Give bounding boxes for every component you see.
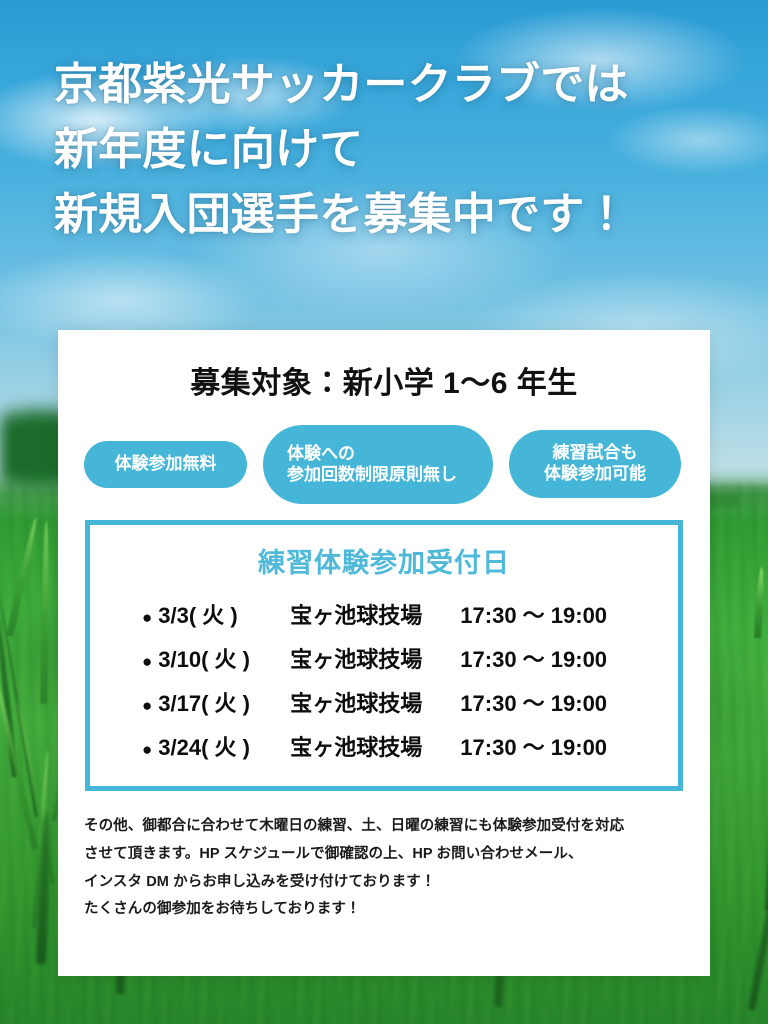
headline-line-1: 京都紫光サッカークラブでは [54, 52, 744, 117]
information-card: 募集対象：新小学 1〜6 年生 体験参加無料 体験への 参加回数制限原則無し 練… [58, 330, 710, 976]
bullet-icon: ● [142, 697, 152, 714]
schedule-row: ● 3/10( 火 ) 宝ヶ池球技場 17:30 〜 19:00 [90, 636, 678, 680]
poster-root: 京都紫光サッカークラブでは 新年度に向けて 新規入団選手を募集中です！ 募集対象… [0, 0, 768, 1024]
feature-pill-unlimited-trials-line-2: 参加回数制限原則無し [287, 465, 457, 486]
schedule-time: 17:30 〜 19:00 [460, 686, 607, 718]
footer-note-line-4: たくさんの御参加をお待ちしております！ [84, 896, 684, 924]
schedule-venue: 宝ヶ池球技場 [290, 598, 460, 630]
feature-pill-free-trial: 体験参加無料 [84, 441, 247, 488]
schedule-row: ● 3/17( 火 ) 宝ヶ池球技場 17:30 〜 19:00 [90, 680, 678, 724]
footer-note-line-2: させて頂きます。HP スケジュールで御確認の上、HP お問い合わせメール、 [84, 841, 684, 869]
schedule-venue: 宝ヶ池球技場 [290, 686, 460, 718]
footer-note: その他、御都合に合わせて木曜日の練習、土、日曜の練習にも体験参加受付を対応 させ… [84, 813, 684, 924]
schedule-date: 3/3( 火 ) [158, 598, 290, 630]
schedule-venue: 宝ヶ池球技場 [290, 730, 460, 762]
bullet-icon: ● [142, 653, 152, 670]
feature-pill-practice-match: 練習試合も 体験参加可能 [509, 430, 681, 498]
schedule-venue: 宝ヶ池球技場 [290, 642, 460, 674]
feature-pill-unlimited-trials: 体験への 参加回数制限原則無し [263, 425, 493, 504]
schedule-date: 3/17( 火 ) [158, 686, 290, 718]
schedule-box: 練習体験参加受付日 ● 3/3( 火 ) 宝ヶ池球技場 17:30 〜 19:0… [85, 520, 683, 791]
headline-line-2: 新年度に向けて [54, 117, 744, 182]
footer-note-line-1: その他、御都合に合わせて木曜日の練習、土、日曜の練習にも体験参加受付を対応 [84, 813, 684, 841]
feature-pill-free-trial-line-1: 体験参加無料 [115, 454, 217, 475]
feature-pill-practice-match-line-1: 練習試合も [553, 443, 638, 464]
schedule-date: 3/10( 火 ) [158, 642, 290, 674]
schedule-row: ● 3/3( 火 ) 宝ヶ池球技場 17:30 〜 19:00 [90, 592, 678, 636]
bullet-icon: ● [142, 741, 152, 758]
footer-note-line-3: インスタ DM からお申し込みを受け付けております！ [84, 869, 684, 897]
bullet-icon: ● [142, 609, 152, 626]
headline-line-3: 新規入団選手を募集中です！ [54, 182, 744, 247]
schedule-time: 17:30 〜 19:00 [460, 642, 607, 674]
feature-pill-practice-match-line-2: 体験参加可能 [544, 464, 646, 485]
schedule-time: 17:30 〜 19:00 [460, 598, 607, 630]
recruitment-target-heading: 募集対象：新小学 1〜6 年生 [58, 330, 710, 402]
schedule-row: ● 3/24( 火 ) 宝ヶ池球技場 17:30 〜 19:00 [90, 724, 678, 768]
schedule-date: 3/24( 火 ) [158, 730, 290, 762]
schedule-list: ● 3/3( 火 ) 宝ヶ池球技場 17:30 〜 19:00 ● 3/10( … [90, 592, 678, 768]
schedule-time: 17:30 〜 19:00 [460, 730, 607, 762]
schedule-title: 練習体験参加受付日 [90, 541, 678, 580]
feature-pill-group: 体験参加無料 体験への 参加回数制限原則無し 練習試合も 体験参加可能 [58, 424, 710, 504]
poster-headline: 京都紫光サッカークラブでは 新年度に向けて 新規入団選手を募集中です！ [54, 52, 744, 247]
feature-pill-unlimited-trials-line-1: 体験への [287, 444, 355, 465]
